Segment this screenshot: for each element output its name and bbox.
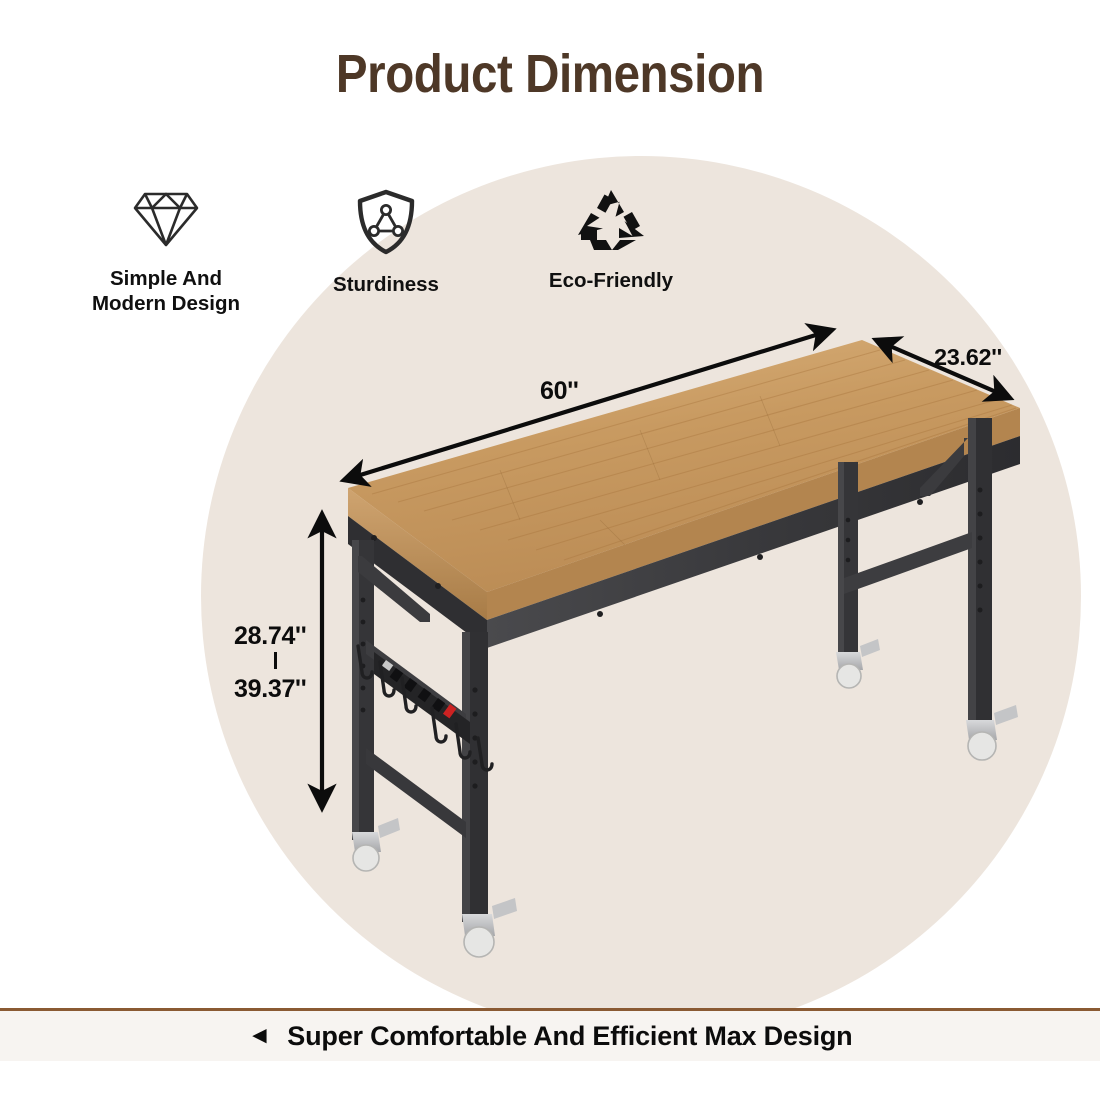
feature-sturdiness: Sturdiness xyxy=(286,188,486,297)
height-min-label: 28.74'' xyxy=(234,622,306,651)
height-range-separator xyxy=(274,652,277,669)
feature-eco-friendly: Eco-Friendly xyxy=(496,188,726,293)
shield-icon xyxy=(286,188,486,256)
depth-dimension-label: 23.62'' xyxy=(934,344,1002,371)
diamond-icon xyxy=(46,188,286,250)
bottom-caption-text: Super Comfortable And Efficient Max Desi… xyxy=(287,1021,852,1052)
feature-simple-and-modern-design: Simple And Modern Design xyxy=(46,188,286,316)
bottom-divider-rule xyxy=(0,1008,1100,1011)
feature-label: Eco-Friendly xyxy=(549,269,673,292)
bottom-banner: ◄ Super Comfortable And Efficient Max De… xyxy=(0,1012,1100,1060)
feature-label: Simple And Modern Design xyxy=(92,267,240,315)
recycle-icon xyxy=(496,188,726,252)
left-triangle-icon: ◄ xyxy=(248,1024,272,1048)
page-title: Product Dimension xyxy=(66,44,1034,104)
height-max-label: 39.37'' xyxy=(234,675,306,704)
width-dimension-label: 60'' xyxy=(540,377,579,406)
feature-label: Sturdiness xyxy=(333,273,439,296)
